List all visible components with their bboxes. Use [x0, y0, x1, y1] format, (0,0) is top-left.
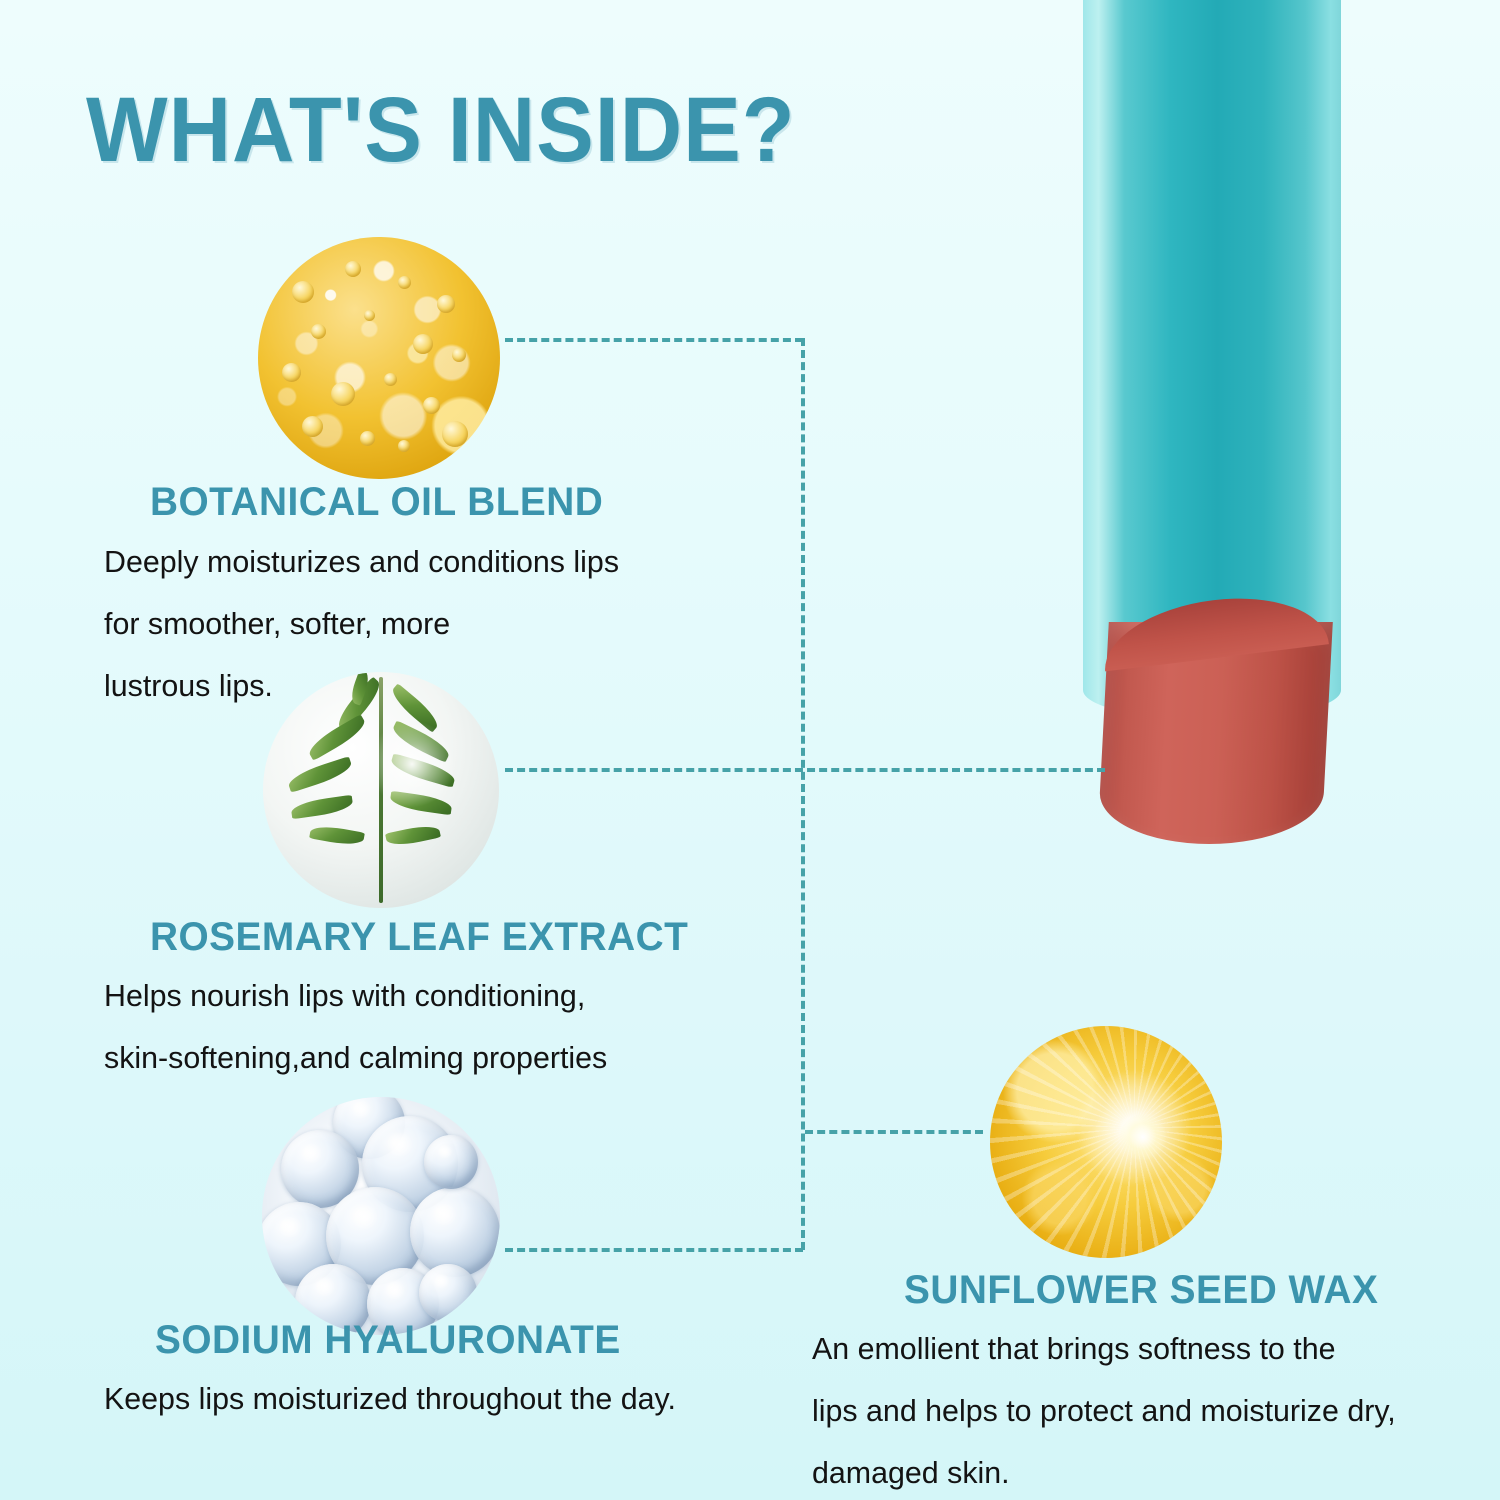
body-line: Helps nourish lips with conditioning,: [104, 965, 607, 1027]
heading-sodium-hyaluronate: SODIUM HYALURONATE: [155, 1318, 621, 1363]
heading-rosemary-leaf-extract: ROSEMARY LEAF EXTRACT: [150, 915, 688, 960]
connector-line-rosemary-to-product: [505, 768, 1105, 772]
body-line: An emollient that brings softness to the: [812, 1318, 1396, 1380]
connector-line-sunflower: [805, 1130, 983, 1134]
rosemary-sprig-icon: [263, 672, 499, 908]
body-line: for smoother, softer, more: [104, 593, 619, 655]
water-bubbles-icon: [262, 1097, 500, 1335]
body-line: lips and helps to protect and moisturize…: [812, 1380, 1396, 1442]
body-line: Deeply moisturizes and conditions lips: [104, 531, 619, 593]
heading-botanical-oil-blend: BOTANICAL OIL BLEND: [150, 480, 603, 525]
golden-oil-droplets-icon: [258, 237, 500, 479]
body-rosemary-leaf-extract: Helps nourish lips with conditioning, sk…: [104, 965, 607, 1089]
heading-sunflower-seed-wax: SUNFLOWER SEED WAX: [904, 1268, 1378, 1313]
connector-trunk-line: [801, 338, 805, 1250]
body-line: skin-softening,and calming properties: [104, 1027, 607, 1089]
lipstick-tube: [1083, 0, 1341, 690]
body-line: Keeps lips moisturized throughout the da…: [104, 1368, 676, 1430]
body-sunflower-seed-wax: An emollient that brings softness to the…: [812, 1318, 1396, 1500]
connector-line-oil: [505, 338, 803, 342]
body-sodium-hyaluronate: Keeps lips moisturized throughout the da…: [104, 1368, 676, 1430]
page-title: WHAT'S INSIDE?: [86, 78, 796, 183]
body-line: damaged skin.: [812, 1442, 1396, 1500]
connector-line-hyaluronate: [505, 1248, 803, 1252]
amber-wax-sphere-icon: [990, 1026, 1222, 1258]
infographic-canvas: WHAT'S INSIDE? BOT: [0, 0, 1500, 1500]
